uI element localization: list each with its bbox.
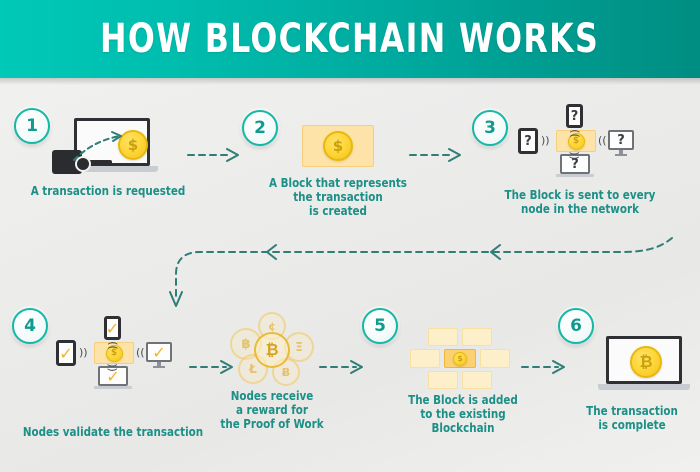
signal-wave-down: )) (569, 151, 580, 160)
row-connector-arrow (80, 226, 680, 310)
page-title: HOW BLOCKCHAIN WORKS (100, 16, 599, 62)
node-mark-monitor: ✓ (152, 343, 165, 362)
step-badge-1: 1 (14, 108, 50, 144)
signal-wave-left: )) (79, 347, 88, 358)
step-badge-2: 2 (242, 110, 278, 146)
infographic-poster: HOW BLOCKCHAIN WORKS 1 $ A transaction i… (0, 0, 700, 472)
crypto-symbol-top: ¢ (268, 320, 276, 333)
step-1-illustration: $ (52, 116, 162, 180)
step-number-5: 5 (374, 318, 386, 335)
step-badge-3: 3 (472, 110, 508, 146)
arrow-step5-to-step6 (520, 358, 574, 376)
step-3-illustration: ? ? ? ? $ )) (( )) )) (516, 104, 636, 176)
monitor-icon: ? (608, 130, 634, 150)
signal-wave-up: )) (107, 341, 118, 350)
crypto-symbol-right: Ξ (295, 340, 303, 354)
monitor-foot (153, 366, 165, 368)
crypto-symbol-left: ฿ (241, 337, 250, 352)
arrow-step2-to-step3 (408, 146, 470, 164)
tablet-icon: ? (518, 128, 538, 154)
node-mark-tablet: ? (524, 134, 532, 149)
step-badge-4: 4 (12, 308, 48, 344)
monitor-foot (615, 154, 627, 156)
step-2-illustration: $ (302, 125, 374, 167)
phone-icon: ? (566, 104, 583, 128)
laptop-base (556, 174, 594, 177)
chain-block (428, 371, 458, 389)
step-5-illustration: $ (408, 328, 518, 390)
step-3-caption: The Block is sent to every node in the n… (503, 188, 658, 216)
coin-symbol-1: $ (128, 136, 138, 154)
laptop-base (598, 384, 690, 390)
step-number-2: 2 (254, 120, 266, 137)
header-banner: HOW BLOCKCHAIN WORKS (0, 0, 700, 78)
step-2-caption: A Block that represents the transaction … (264, 176, 411, 218)
signal-wave-right: (( (136, 347, 145, 358)
dollar-coin-icon: $ (453, 352, 467, 366)
step-5-caption: The Block is added to the existing Block… (394, 393, 532, 435)
crypto-symbol-bottom-right: Ƀ (282, 366, 290, 379)
block-icon: $ (302, 125, 374, 167)
coin-symbol-6: ₿ (639, 352, 652, 372)
crypto-symbol-bottom-left: Ł (249, 362, 257, 376)
monitor-icon: ✓ (146, 342, 172, 362)
dollar-coin-icon: $ (323, 131, 353, 161)
wallet-to-screen-arrow (70, 130, 126, 164)
step-6-illustration: ₿ (598, 336, 694, 392)
signal-wave-down: )) (107, 363, 118, 372)
chain-block (462, 328, 492, 346)
step-6-caption: The transaction is complete (571, 404, 692, 432)
step-number-6: 6 (570, 318, 582, 335)
tablet-icon: ✓ (56, 340, 76, 366)
step-1-caption: A transaction is requested (18, 184, 198, 198)
step-number-4: 4 (24, 318, 36, 335)
step-4-caption: Nodes validate the transaction (16, 425, 209, 439)
step-number-3: 3 (484, 120, 496, 137)
chain-block-new: $ (444, 349, 476, 368)
laptop-base (94, 386, 132, 389)
crypto-symbol-bitcoin: ₿ (265, 340, 278, 360)
step-badge-6: 6 (558, 308, 594, 344)
arrow-step1-to-step2 (186, 146, 248, 164)
bitcoin-coin-icon: ₿ (254, 332, 290, 368)
chain-block (410, 349, 440, 368)
node-mark-phone: ? (571, 109, 579, 124)
node-mark-tablet: ✓ (59, 344, 72, 363)
step-number-1: 1 (26, 118, 38, 135)
signal-wave-up: )) (569, 129, 580, 138)
bitcoin-coin-icon: ₿ (630, 346, 662, 378)
arrow-reward-to-step5 (318, 358, 372, 376)
header-shadow (0, 78, 700, 85)
phone-icon: ✓ (104, 316, 121, 340)
reward-caption: Nodes receive a reward for the Proof of … (208, 389, 337, 431)
coin-symbol-2: $ (333, 137, 343, 155)
coin-symbol-5: $ (457, 354, 463, 363)
signal-wave-left: )) (541, 135, 550, 146)
chain-block (462, 371, 492, 389)
signal-wave-right: (( (598, 135, 607, 146)
node-mark-monitor: ? (617, 133, 625, 148)
step-4-illustration: ✓ ✓ ✓ ✓ $ )) (( )) )) (54, 316, 174, 388)
node-mark-phone: ✓ (106, 319, 119, 338)
reward-illustration: ¢ ฿ Ξ Ł Ƀ ₿ (228, 312, 314, 388)
chain-block (480, 349, 510, 368)
step-badge-5: 5 (362, 308, 398, 344)
chain-block (428, 328, 458, 346)
